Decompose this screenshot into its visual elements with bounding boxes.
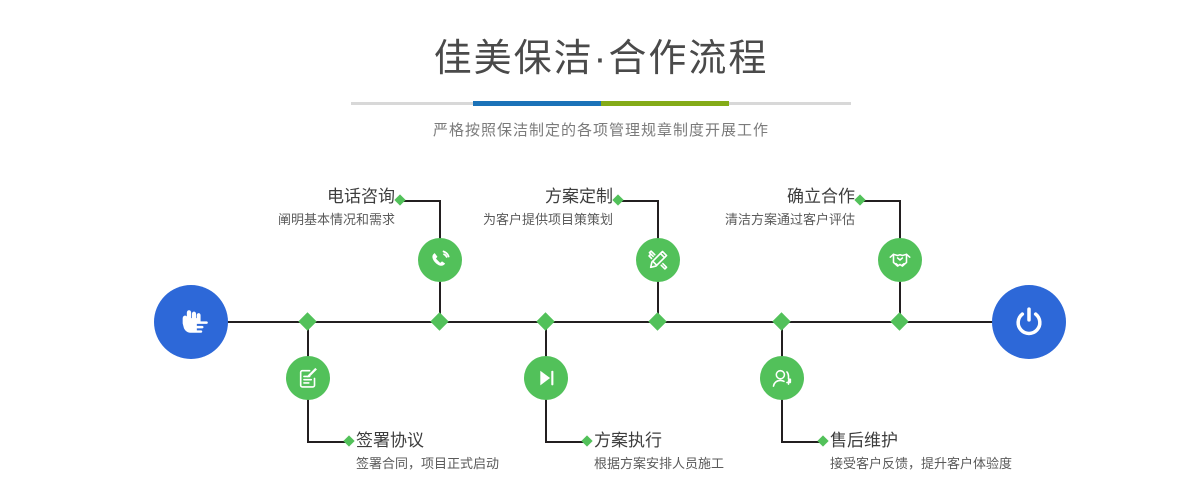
node-step-1[interactable] (418, 238, 462, 282)
node-step-2[interactable] (286, 356, 330, 400)
pencil-ruler-icon (645, 247, 671, 273)
connector-stub-step-5 (860, 200, 901, 202)
node-step-4[interactable] (524, 356, 568, 400)
handshake-icon (887, 247, 913, 273)
label-step-5-title: 确立合作 (610, 186, 855, 207)
play-execute-icon (533, 365, 559, 391)
marker-axis-step-6 (772, 312, 790, 330)
power-icon (1009, 302, 1049, 342)
label-step-5-desc: 清洁方案通过客户评估 (610, 211, 855, 229)
node-step-3[interactable] (636, 238, 680, 282)
label-step-5: 确立合作 清洁方案通过客户评估 (610, 186, 855, 229)
timeline-end-node[interactable] (992, 285, 1066, 359)
label-step-6-desc: 接受客户反馈，提升客户体验度 (830, 455, 1160, 473)
label-step-6: 售后维护 接受客户反馈，提升客户体验度 (830, 430, 1160, 473)
phone-call-icon (427, 247, 453, 273)
marker-label-step-5 (854, 194, 865, 205)
pointing-hand-icon (171, 302, 211, 342)
timeline: 电话咨询 阐明基本情况和需求 签署协议 签署合同，项目正式启动 (0, 0, 1202, 502)
marker-axis-step-2 (298, 312, 316, 330)
label-step-3-desc: 为客户提供项目策策划 (365, 211, 613, 229)
label-step-1: 电话咨询 阐明基本情况和需求 (150, 186, 395, 229)
label-step-1-title: 电话咨询 (150, 186, 395, 207)
marker-axis-step-3 (648, 312, 666, 330)
label-step-3: 方案定制 为客户提供项目策策划 (365, 186, 613, 229)
headset-support-icon (769, 365, 795, 391)
marker-axis-step-1 (430, 312, 448, 330)
label-step-1-desc: 阐明基本情况和需求 (150, 211, 395, 229)
document-sign-icon (295, 365, 321, 391)
marker-label-step-2 (343, 435, 354, 446)
label-step-3-title: 方案定制 (365, 186, 613, 207)
node-step-6[interactable] (760, 356, 804, 400)
marker-axis-step-5 (890, 312, 908, 330)
process-flow-page: 佳美保洁·合作流程 严格按照保洁制定的各项管理规章制度开展工作 (0, 0, 1202, 502)
label-step-6-title: 售后维护 (830, 430, 1160, 451)
marker-axis-step-4 (536, 312, 554, 330)
node-step-5[interactable] (878, 238, 922, 282)
timeline-start-node[interactable] (154, 285, 228, 359)
